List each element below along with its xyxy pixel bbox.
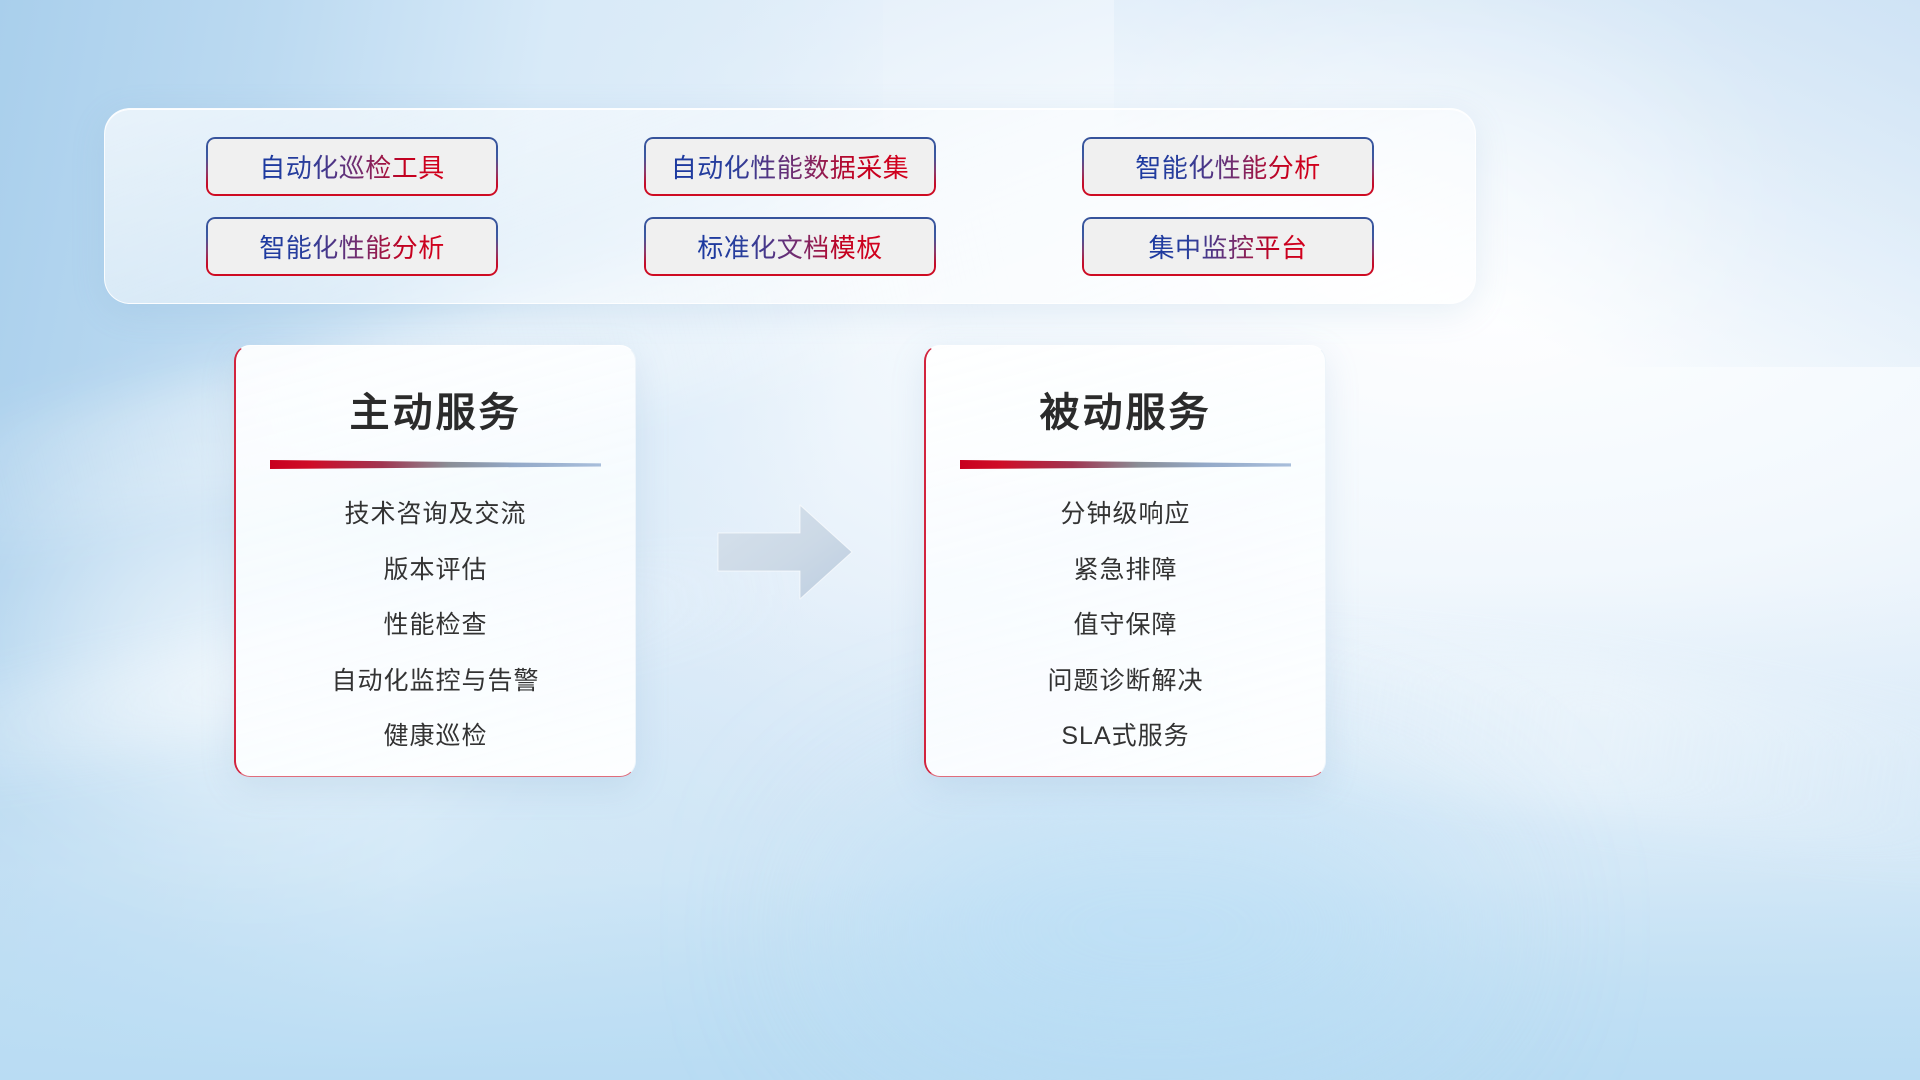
right-arrow-icon	[716, 503, 854, 601]
capability-pill-label: 自动化性能数据采集	[671, 148, 910, 185]
list-item: 性能检查	[270, 612, 601, 640]
capability-pill[interactable]: 自动化性能数据采集	[644, 137, 936, 196]
list-item: 紧急排障	[960, 557, 1291, 585]
card-title-divider	[960, 460, 1291, 469]
card-title-divider	[270, 460, 601, 469]
list-item: 健康巡检	[270, 723, 601, 751]
card-title: 主动服务	[270, 380, 601, 438]
capability-pill[interactable]: 集中监控平台	[1082, 217, 1374, 276]
capabilities-banner: 自动化巡检工具 自动化性能数据采集 智能化性能分析 智能化性能分析 标准化文档模…	[104, 108, 1476, 304]
card-item-list: 技术咨询及交流 版本评估 性能检查 自动化监控与告警 健康巡检	[270, 501, 601, 751]
list-item: 版本评估	[270, 557, 601, 585]
capability-pill[interactable]: 智能化性能分析	[1082, 137, 1374, 196]
capability-pill[interactable]: 标准化文档模板	[644, 217, 936, 276]
capability-pill-label: 智能化性能分析	[1135, 148, 1321, 185]
list-item: 问题诊断解决	[960, 668, 1291, 696]
list-item: SLA式服务	[960, 723, 1291, 751]
card-title: 被动服务	[960, 380, 1291, 438]
service-card-proactive: 主动服务 技术咨询及交流 版本评估 性能检查 自动化监控与告警 健康巡检	[234, 345, 636, 777]
service-card-reactive: 被动服务 分钟级响应 紧急排障 值守保障 问题诊断解决 SLA式服务	[924, 345, 1326, 777]
list-item: 值守保障	[960, 612, 1291, 640]
list-item: 分钟级响应	[960, 501, 1291, 529]
capability-pill-label: 自动化巡检工具	[259, 148, 445, 185]
capability-pill-label: 集中监控平台	[1148, 228, 1307, 265]
capability-pill[interactable]: 自动化巡检工具	[206, 137, 498, 196]
capability-pill-label: 智能化性能分析	[259, 228, 445, 265]
card-item-list: 分钟级响应 紧急排障 值守保障 问题诊断解决 SLA式服务	[960, 501, 1291, 751]
list-item: 技术咨询及交流	[270, 501, 601, 529]
capability-pill[interactable]: 智能化性能分析	[206, 217, 498, 276]
capability-pill-label: 标准化文档模板	[697, 228, 883, 265]
list-item: 自动化监控与告警	[270, 668, 601, 696]
